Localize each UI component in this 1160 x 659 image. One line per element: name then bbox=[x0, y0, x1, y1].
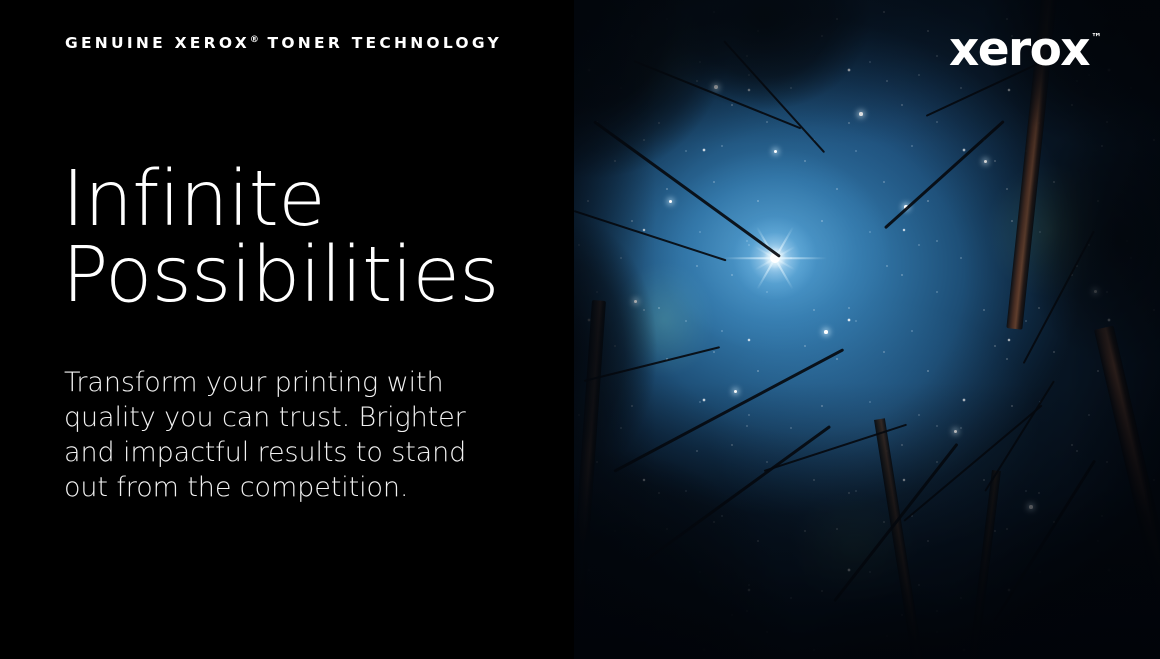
eyebrow-suffix: TONER TECHNOLOGY bbox=[259, 34, 502, 52]
eyebrow-heading: GENUINE XEROX® TONER TECHNOLOGY bbox=[65, 36, 502, 52]
page-title: Infinite Possibilities bbox=[62, 162, 562, 314]
left-text-panel: GENUINE XEROX® TONER TECHNOLOGY Infinite… bbox=[0, 0, 574, 659]
trademark-icon: ™ bbox=[1091, 32, 1102, 43]
subcopy-paragraph: Transform your printing with quality you… bbox=[64, 365, 504, 505]
night-sky-forest-photo bbox=[574, 0, 1160, 659]
eyebrow-prefix: GENUINE XEROX bbox=[65, 34, 250, 52]
headline-line-2: Possibilities bbox=[62, 238, 562, 314]
xerox-logo: xerox ™ bbox=[949, 26, 1102, 73]
headline-line-1: Infinite bbox=[62, 162, 562, 238]
xerox-wordmark: xerox bbox=[949, 26, 1089, 73]
photo-grain bbox=[574, 0, 1160, 659]
registered-trademark-icon: ® bbox=[250, 35, 259, 45]
xerox-toner-banner: GENUINE XEROX® TONER TECHNOLOGY Infinite… bbox=[0, 0, 1160, 659]
